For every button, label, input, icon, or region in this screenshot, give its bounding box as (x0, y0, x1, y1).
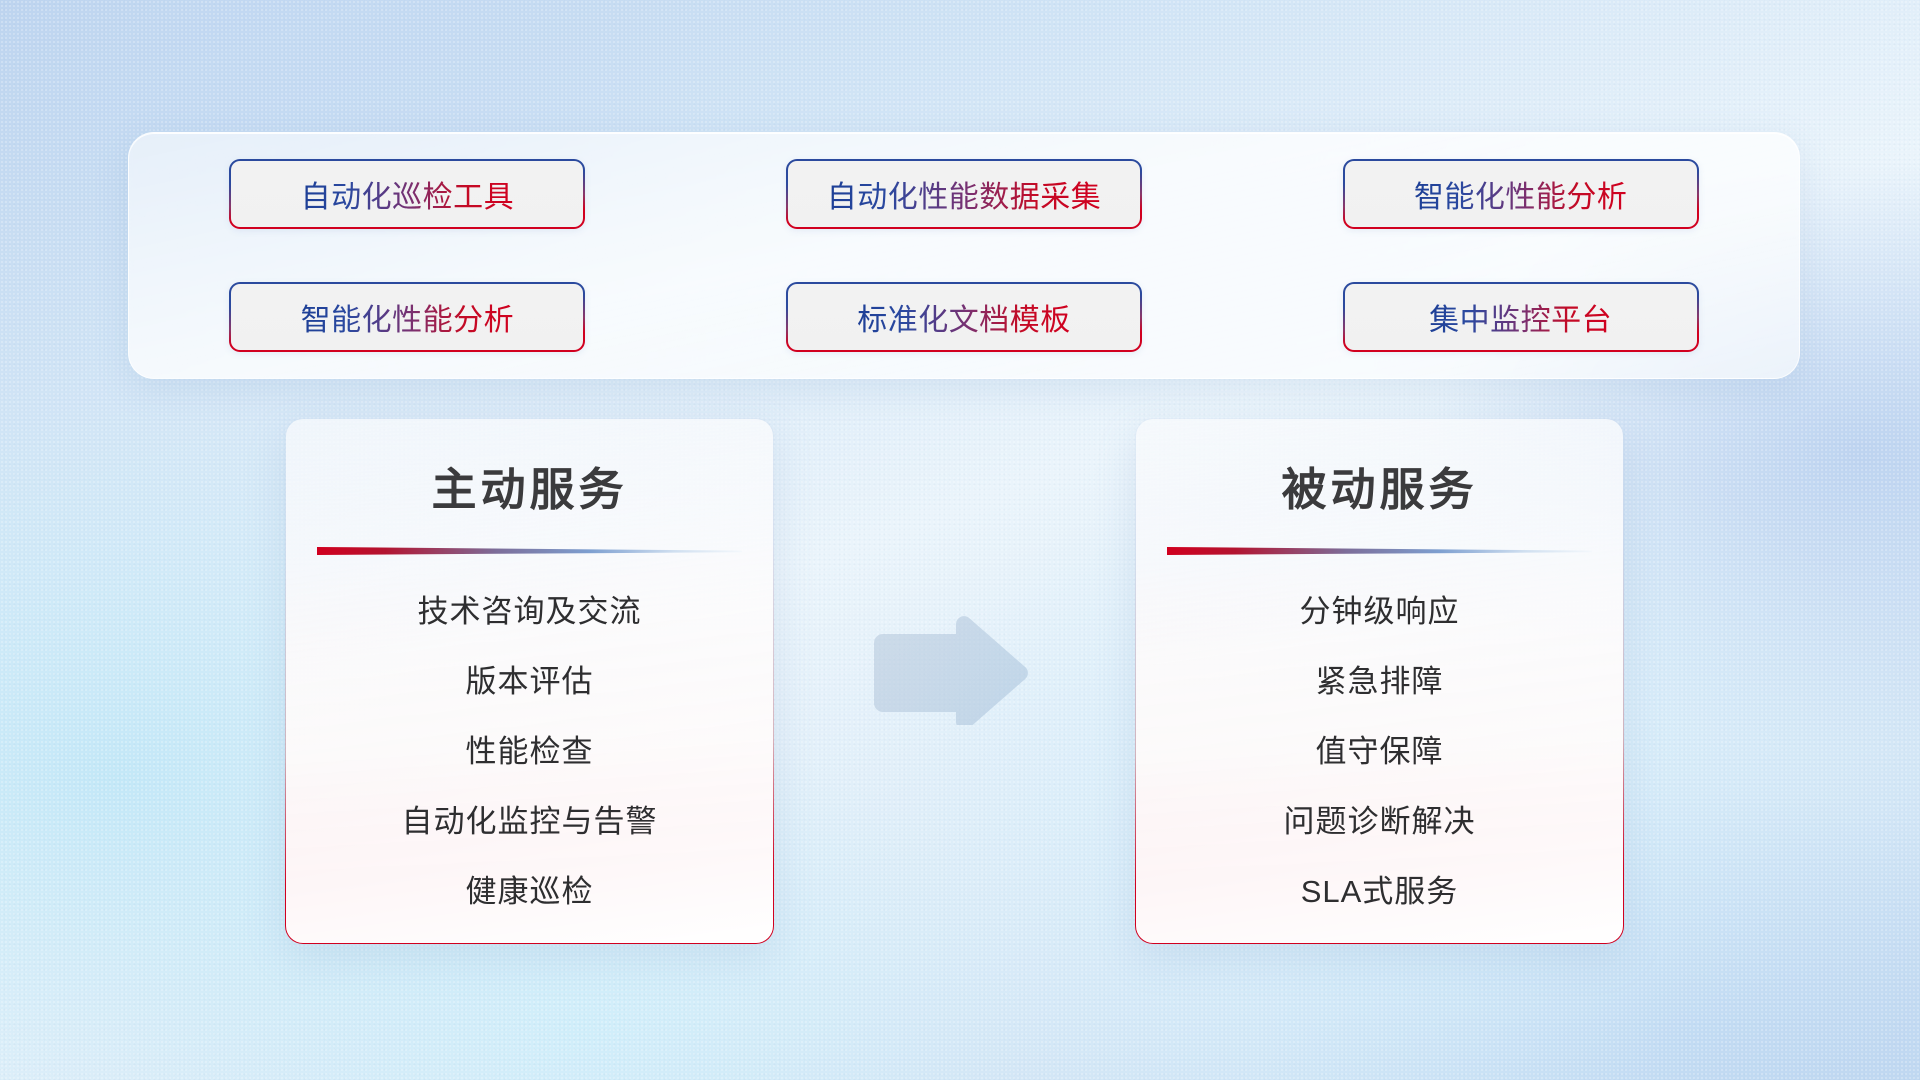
service-list-item: 值守保障 (1316, 726, 1444, 771)
capability-chip-label: 自动化性能数据采集 (827, 172, 1102, 216)
capability-chip-label: 自动化巡检工具 (301, 172, 515, 216)
capability-chip-label: 智能化性能分析 (301, 295, 515, 339)
service-list-item: 技术咨询及交流 (418, 586, 642, 631)
capability-chip[interactable]: 智能化性能分析 (1343, 159, 1699, 229)
capability-chip[interactable]: 自动化巡检工具 (229, 159, 585, 229)
card-divider (317, 544, 742, 558)
capability-chips-panel: 自动化巡检工具 自动化性能数据采集 智能化性能分析 智能化性能分析 标准化文档模… (128, 132, 1800, 379)
service-list-item: 自动化监控与告警 (402, 796, 658, 841)
capability-chip[interactable]: 集中监控平台 (1343, 282, 1699, 352)
service-card-reactive: 被动服务 分钟级响应 紧急排障 值守保障 (1135, 418, 1624, 944)
service-card-title: 被动服务 (1136, 453, 1623, 518)
service-list-item: 性能检查 (466, 726, 594, 771)
capability-chip-label: 标准化文档模板 (857, 295, 1071, 339)
service-card-title: 主动服务 (286, 453, 773, 518)
capability-chip[interactable]: 智能化性能分析 (229, 282, 585, 352)
capability-chip[interactable]: 自动化性能数据采集 (786, 159, 1142, 229)
service-list-item: 紧急排障 (1316, 656, 1444, 701)
arrow-right-icon (862, 613, 1032, 725)
diagram-canvas: 自动化巡检工具 自动化性能数据采集 智能化性能分析 智能化性能分析 标准化文档模… (0, 0, 1920, 1080)
service-list-item: 版本评估 (466, 656, 594, 701)
capability-chip-label: 集中监控平台 (1429, 295, 1612, 339)
capability-chip[interactable]: 标准化文档模板 (786, 282, 1142, 352)
service-card-proactive: 主动服务 技术咨询及交流 版本评估 性能检查 (285, 418, 774, 944)
service-list-item: SLA式服务 (1301, 866, 1459, 911)
service-list-item: 健康巡检 (466, 866, 594, 911)
card-divider (1167, 544, 1592, 558)
service-item-list: 分钟级响应 紧急排障 值守保障 问题诊断解决 SLA式服务 (1136, 586, 1623, 911)
capability-chip-label: 智能化性能分析 (1414, 172, 1628, 216)
service-list-item: 分钟级响应 (1300, 586, 1460, 631)
service-list-item: 问题诊断解决 (1284, 796, 1476, 841)
service-item-list: 技术咨询及交流 版本评估 性能检查 自动化监控与告警 健康巡检 (286, 586, 773, 911)
